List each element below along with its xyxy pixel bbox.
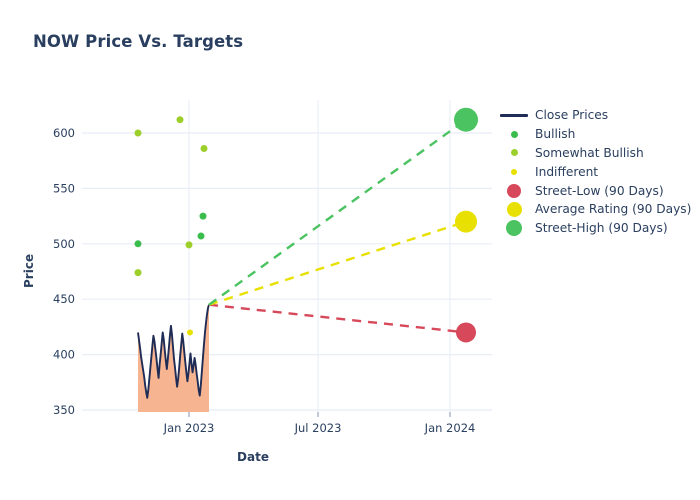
legend-item[interactable]: Indifferent: [497, 162, 697, 181]
rating-scatter-points: [135, 116, 208, 335]
legend-item-label: Close Prices: [535, 108, 608, 122]
scatter-point[interactable]: [135, 240, 142, 247]
x-tick-label: Jan 2023: [163, 421, 215, 435]
scatter-point[interactable]: [200, 213, 207, 220]
target-marker[interactable]: [454, 108, 478, 132]
legend-dot-icon: [497, 131, 531, 138]
legend-item[interactable]: Street-Low (90 Days): [497, 181, 697, 200]
legend-item[interactable]: Close Prices: [497, 106, 697, 125]
x-axis-title: Date: [0, 450, 506, 464]
legend-dot-icon: [497, 220, 531, 236]
scatter-point[interactable]: [177, 116, 184, 123]
x-tick-label: Jan 2024: [424, 421, 476, 435]
legend-item[interactable]: Somewhat Bullish: [497, 144, 697, 163]
plot-area: 350400450500550600 Jan 2023Jul 2023Jan 2…: [0, 0, 700, 500]
y-axis-title: Price: [22, 254, 36, 288]
legend-item-label: Average Rating (90 Days): [535, 202, 691, 216]
legend-dot-icon: [497, 169, 531, 175]
legend-item-label: Bullish: [535, 127, 575, 141]
target-markers: [454, 108, 478, 343]
legend-dot-icon: [497, 149, 531, 156]
scatter-point[interactable]: [201, 145, 208, 152]
legend-dot-icon: [497, 184, 531, 198]
x-tick-label: Jul 2023: [294, 421, 342, 435]
legend-item-label: Indifferent: [535, 165, 598, 179]
scatter-point[interactable]: [135, 130, 142, 137]
y-tick-label: 350: [53, 403, 75, 417]
legend-line-icon: [497, 114, 531, 117]
y-tick-label: 550: [53, 181, 75, 195]
y-tick-label: 600: [53, 126, 75, 140]
scatter-point[interactable]: [187, 329, 193, 335]
y-tick-label: 450: [53, 292, 75, 306]
legend-item[interactable]: Average Rating (90 Days): [497, 200, 697, 219]
target-marker[interactable]: [456, 322, 476, 342]
chart-legend: Close PricesBullishSomewhat BullishIndif…: [497, 106, 697, 238]
y-tick-label: 400: [53, 348, 75, 362]
scatter-point[interactable]: [135, 269, 142, 276]
legend-item-label: Street-High (90 Days): [535, 221, 668, 235]
scatter-point[interactable]: [198, 233, 205, 240]
target-projection-lines: [209, 120, 466, 333]
legend-item-label: Somewhat Bullish: [535, 146, 644, 160]
legend-dot-icon: [497, 202, 531, 217]
y-tick-label: 500: [53, 237, 75, 251]
legend-item-label: Street-Low (90 Days): [535, 184, 664, 198]
chart-container: NOW Price Vs. Targets 350400450500550600…: [0, 0, 700, 500]
x-axis-tick-labels: Jan 2023Jul 2023Jan 2024: [163, 412, 476, 435]
gridlines-group: [82, 100, 492, 412]
scatter-point[interactable]: [186, 241, 193, 248]
target-marker[interactable]: [455, 211, 477, 233]
y-axis-tick-labels: 350400450500550600: [53, 126, 75, 417]
legend-item[interactable]: Street-High (90 Days): [497, 219, 697, 238]
legend-item[interactable]: Bullish: [497, 125, 697, 144]
